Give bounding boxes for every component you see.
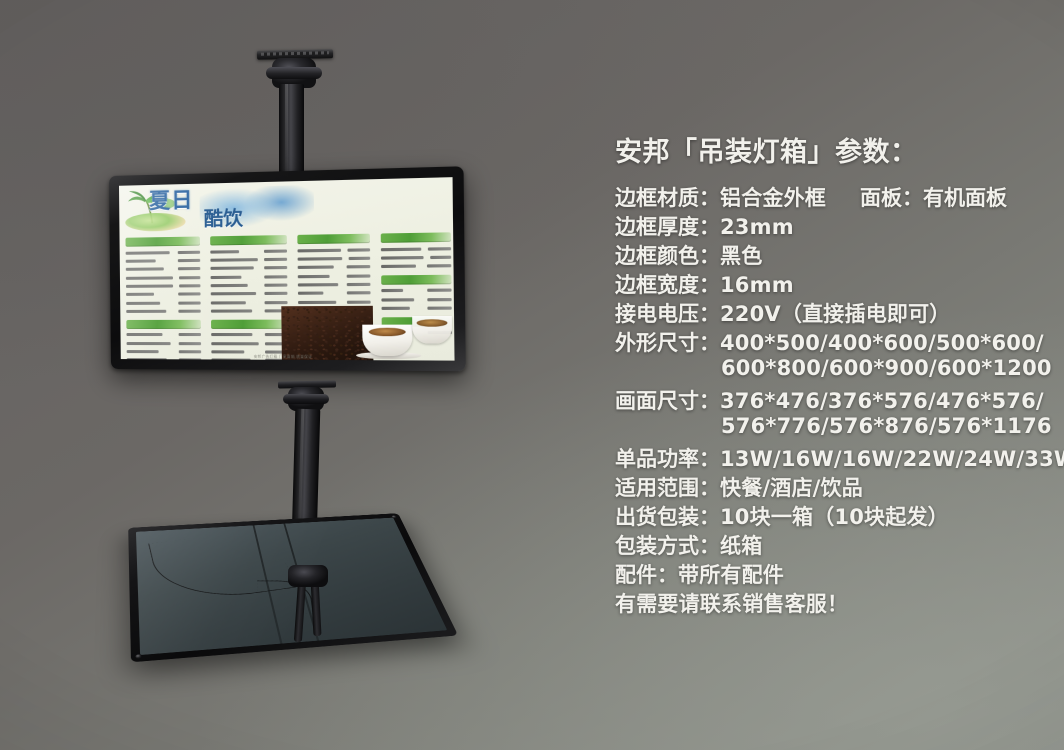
spec-key: 包装方式： [615,530,720,560]
spec-value: 快餐/酒店/饮品 [720,472,863,502]
spec-line: 边框厚度：23mm [615,211,1064,240]
spec-value: 400*500/400*600/500*600/ [720,331,1044,355]
coffee-beans [281,306,373,360]
menu-section [126,320,201,361]
spec-key: 适用范围： [615,472,720,502]
spec-value: 黑色 [720,240,762,270]
coffee-cup [362,325,412,357]
ceiling-mount-pivot-lower [288,387,324,411]
spec-value: 铝合金外框 [720,182,826,212]
menu-column-2 [210,235,288,361]
spec-line: 单品功率：13W/16W/16W/22W/24W/33W [615,443,1064,472]
spec-line: 画面尺寸：376*476/376*576/476*576/ [615,385,1064,414]
spec-line: 边框宽度：16mm [615,269,1064,298]
spec-panel: 安邦「吊装灯箱」参数： 边框材质：铝合金外框面板：有机面板边框厚度：23mm边框… [612,0,1064,750]
tilt-pivot-joint [288,565,328,587]
spec-value: 23mm [720,215,794,239]
spec-line: 适用范围：快餐/酒店/饮品 [615,472,1064,501]
spec-key: 边框颜色： [615,240,720,270]
light-box-front: 夏日 酷饮 [109,166,466,371]
spec-value: 带所有配件 [678,559,784,589]
menu-section [381,232,452,270]
menu-headline-secondary: 酷饮 [204,209,243,229]
menu-rows [126,249,201,315]
spec-line: 接电电压：220V（直接插电即可） [615,298,1064,327]
coffee-photo [281,295,454,361]
spec-title: 安邦「吊装灯箱」参数： [615,130,918,169]
spec-key: 画面尺寸： [615,385,720,415]
spec-line: 576*776/576*876/576*1176 [615,414,1064,443]
menu-section-header [211,319,288,328]
menu-rows [126,332,201,361]
menu-column-1 [125,236,201,360]
spec-line: 600*800/600*900/600*1200 [615,356,1064,385]
menu-board-face: 夏日 酷饮 [119,177,455,360]
spec-list: 边框材质：铝合金外框面板：有机面板边框厚度：23mm边框颜色：黑色边框宽度：16… [615,182,1064,617]
spec-value: 10块一箱（10块起发） [720,501,949,531]
spec-line: 边框颜色：黑色 [615,240,1064,269]
menu-section [125,236,200,314]
spec-value: 16mm [720,273,794,297]
spec-key: 外形尺寸： [615,327,720,357]
menu-rows [381,245,451,270]
spec-key: 出货包装： [615,501,720,531]
lagoon-graphic [125,212,185,231]
spec-value: 220V（直接插电即可） [720,298,951,328]
menu-section-header [125,236,200,246]
spec-note: 有需要请联系销售客服！ [615,588,1064,617]
menu-section-header [210,235,287,245]
spec-value: 纸箱 [720,530,762,560]
product-photo: 夏日 酷饮 [0,0,600,750]
spec-value-secondary: 有机面板 [923,182,1007,212]
menu-section-header [381,232,451,243]
coffee-cup [412,316,452,344]
spec-line: 出货包装：10块一箱（10块起发） [615,501,1064,530]
spec-line: 包装方式：纸箱 [615,530,1064,559]
spec-line: 外形尺寸：400*500/400*600/500*600/ [615,327,1064,356]
menu-section-header [126,320,201,329]
spec-value: 13W/16W/16W/22W/24W/33W [720,447,1064,471]
menu-headline-primary: 夏日 [149,190,194,212]
spec-value: 600*800/600*900/600*1200 [721,356,1052,380]
spec-value: 576*776/576*876/576*1176 [721,414,1052,438]
menu-section-header [381,274,451,284]
spec-key: 接电电压： [615,298,720,328]
menu-footer-code: 安邦广告灯箱 厂家直销 质量保证 [254,354,313,359]
spec-key: 边框材质： [615,182,720,212]
menu-rows [210,247,287,314]
spec-key: 边框宽度： [615,269,720,299]
spec-value: 376*476/376*576/476*576/ [720,389,1044,413]
product-detail-image: 夏日 酷饮 [0,0,1064,750]
spec-line: 边框材质：铝合金外框面板：有机面板 [615,182,1064,211]
spec-key: 配件： [615,559,678,589]
spec-value: 有需要请联系销售客服！ [615,588,848,618]
spec-line: 配件：带所有配件 [615,559,1064,588]
menu-section-header [297,234,370,245]
menu-section [210,235,288,314]
spec-key: 边框厚度： [615,211,720,241]
spec-key: 单品功率： [615,443,720,473]
spec-key-secondary: 面板： [860,182,923,212]
